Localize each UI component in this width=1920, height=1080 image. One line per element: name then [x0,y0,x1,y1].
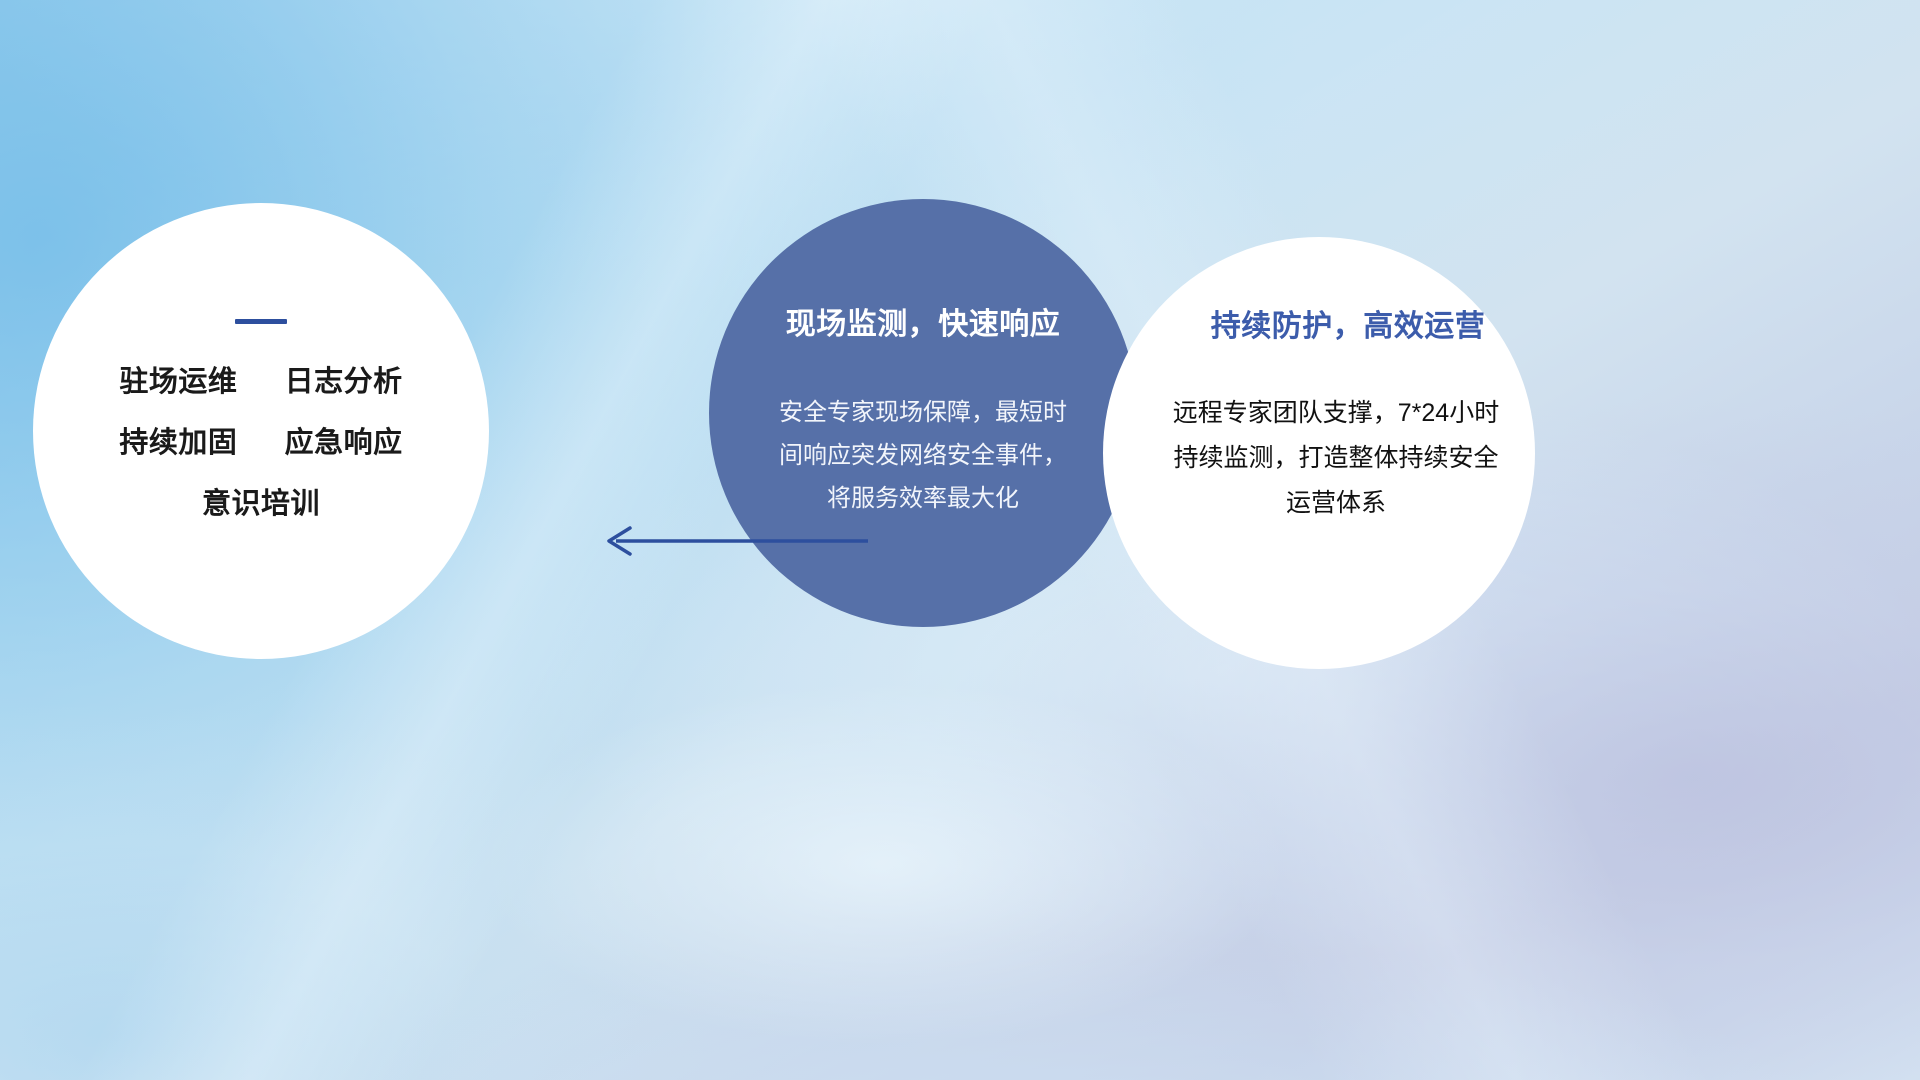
arrow-left-icon [590,516,870,566]
continuous-defense-circle [1103,237,1535,669]
capability-circle [33,203,489,659]
